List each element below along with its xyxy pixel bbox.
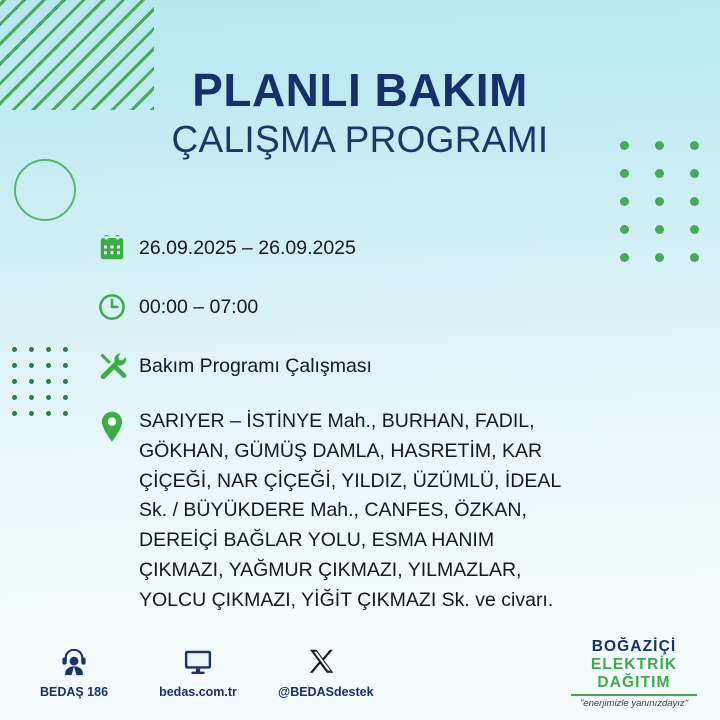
logo-line-dagitim: DAĞITIM: [564, 674, 704, 692]
info-row-date: 26.09.2025 – 26.09.2025: [97, 228, 657, 268]
address-line: ÇİÇEĞİ, NAR ÇİÇEĞİ, YILDIZ, ÜZÜMLÜ, İDEA…: [139, 467, 561, 497]
maintenance-notice-poster: PLANLI BAKIM ÇALIŞMA PROGRAMI: [0, 0, 720, 720]
address-line: ÇIKMAZI, YAĞMUR ÇIKMAZI, YILMAZLAR,: [139, 556, 561, 586]
logo-divider: [571, 694, 697, 696]
circle-outline-decoration: [14, 159, 76, 221]
time-range-text: 00:00 – 07:00: [139, 287, 258, 321]
contact-phone[interactable]: BEDAŞ 186: [30, 645, 118, 699]
contact-label: @BEDASdestek: [278, 685, 366, 699]
x-twitter-icon: [278, 645, 366, 679]
info-list: 26.09.2025 – 26.09.2025 00:00 – 07:00 Ba…: [97, 228, 657, 635]
monitor-icon: [154, 645, 242, 679]
info-row-address: SARIYER – İSTİNYE Mah., BURHAN, FADIL, G…: [97, 405, 657, 616]
address-line: YOLCU ÇIKMAZI, YİĞİT ÇIKMAZI Sk. ve civa…: [139, 586, 561, 616]
address-line: DEREİÇİ BAĞLAR YOLU, ESMA HANIM: [139, 526, 561, 556]
poster-header: PLANLI BAKIM ÇALIŞMA PROGRAMI: [0, 66, 720, 160]
logo-line-elektrik: ELEKTRİK: [564, 656, 704, 674]
contact-label: bedas.com.tr: [154, 685, 242, 699]
calendar-icon: [97, 228, 139, 268]
contact-label: BEDAŞ 186: [30, 685, 118, 699]
contact-x-social[interactable]: @BEDASdestek: [278, 645, 366, 699]
poster-footer: BEDAŞ 186 bedas.com.tr: [0, 645, 720, 720]
date-range-text: 26.09.2025 – 26.09.2025: [139, 228, 356, 262]
clock-icon: [97, 287, 139, 327]
company-logo: BOĞAZİÇİ ELEKTRİK DAĞITIM "enerjimizle y…: [564, 638, 704, 709]
page-title: PLANLI BAKIM: [0, 66, 720, 114]
map-pin-icon: [97, 405, 139, 447]
headset-support-icon: [30, 645, 118, 679]
address-line: SARIYER – İSTİNYE Mah., BURHAN, FADIL,: [139, 407, 561, 437]
info-row-work-type: Bakım Programı Çalışması: [97, 346, 657, 386]
logo-line-bogazici: BOĞAZİÇİ: [564, 638, 704, 656]
dot-grid-decoration-left: [12, 347, 80, 427]
page-subtitle: ÇALIŞMA PROGRAMI: [0, 121, 720, 160]
contact-list: BEDAŞ 186 bedas.com.tr: [30, 645, 366, 699]
address-line: GÖKHAN, GÜMÜŞ DAMLA, HASRETİM, KAR: [139, 437, 561, 467]
address-line: Sk. / BÜYÜKDERE Mah., CANFES, ÖZKAN,: [139, 496, 561, 526]
info-row-time: 00:00 – 07:00: [97, 287, 657, 327]
address-text: SARIYER – İSTİNYE Mah., BURHAN, FADIL, G…: [139, 405, 561, 616]
work-type-text: Bakım Programı Çalışması: [139, 346, 372, 380]
logo-tagline: "enerjimizle yanınızdayız": [564, 698, 704, 709]
contact-website[interactable]: bedas.com.tr: [154, 645, 242, 699]
tools-icon: [97, 346, 139, 386]
